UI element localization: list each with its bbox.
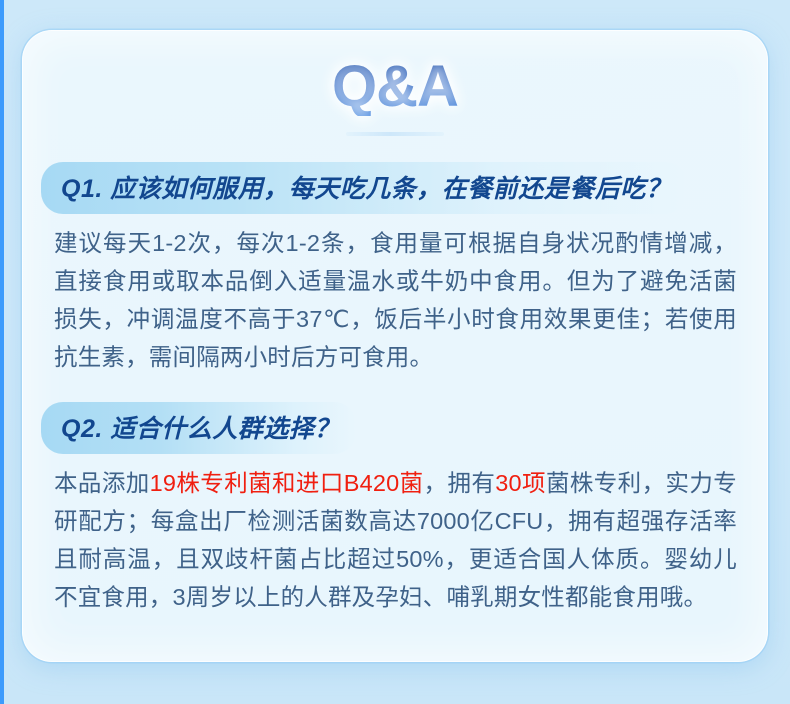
highlighted-text: 19株专利菌和进口B420菌 bbox=[150, 470, 424, 496]
answer-text-q2: 本品添加19株专利菌和进口B420菌，拥有30项菌株专利，实力专研配方；每盒出厂… bbox=[41, 464, 749, 616]
faq-item-q2: Q2. 适合什么人群选择？ 本品添加19株专利菌和进口B420菌，拥有30项菌株… bbox=[41, 402, 749, 616]
question-heading-q1: Q1. 应该如何服用，每天吃几条，在餐前还是餐后吃？ bbox=[41, 162, 687, 214]
page-title: Q&A bbox=[332, 58, 458, 116]
answer-text-q1: 建议每天1-2次，每次1-2条，食用量可根据自身状况酌情增减，直接食用或取本品倒… bbox=[41, 224, 749, 376]
highlighted-text: 30项 bbox=[495, 470, 546, 496]
left-edge-stripe bbox=[0, 0, 4, 704]
answer-segment: 建议每天1-2次，每次1-2条，食用量可根据自身状况酌情增减，直接食用或取本品倒… bbox=[54, 230, 737, 370]
faq-item-q1: Q1. 应该如何服用，每天吃几条，在餐前还是餐后吃？ 建议每天1-2次，每次1-… bbox=[41, 162, 749, 376]
qa-card: Q&A Q1. 应该如何服用，每天吃几条，在餐前还是餐后吃？ 建议每天1-2次，… bbox=[22, 30, 768, 662]
answer-segment: 本品添加 bbox=[54, 470, 150, 496]
question-heading-q2: Q2. 适合什么人群选择？ bbox=[41, 402, 356, 454]
answer-segment: ，拥有 bbox=[424, 470, 496, 496]
faq-list: Q1. 应该如何服用，每天吃几条，在餐前还是餐后吃？ 建议每天1-2次，每次1-… bbox=[23, 162, 767, 617]
title-divider bbox=[346, 132, 444, 136]
title-section: Q&A bbox=[23, 31, 767, 136]
